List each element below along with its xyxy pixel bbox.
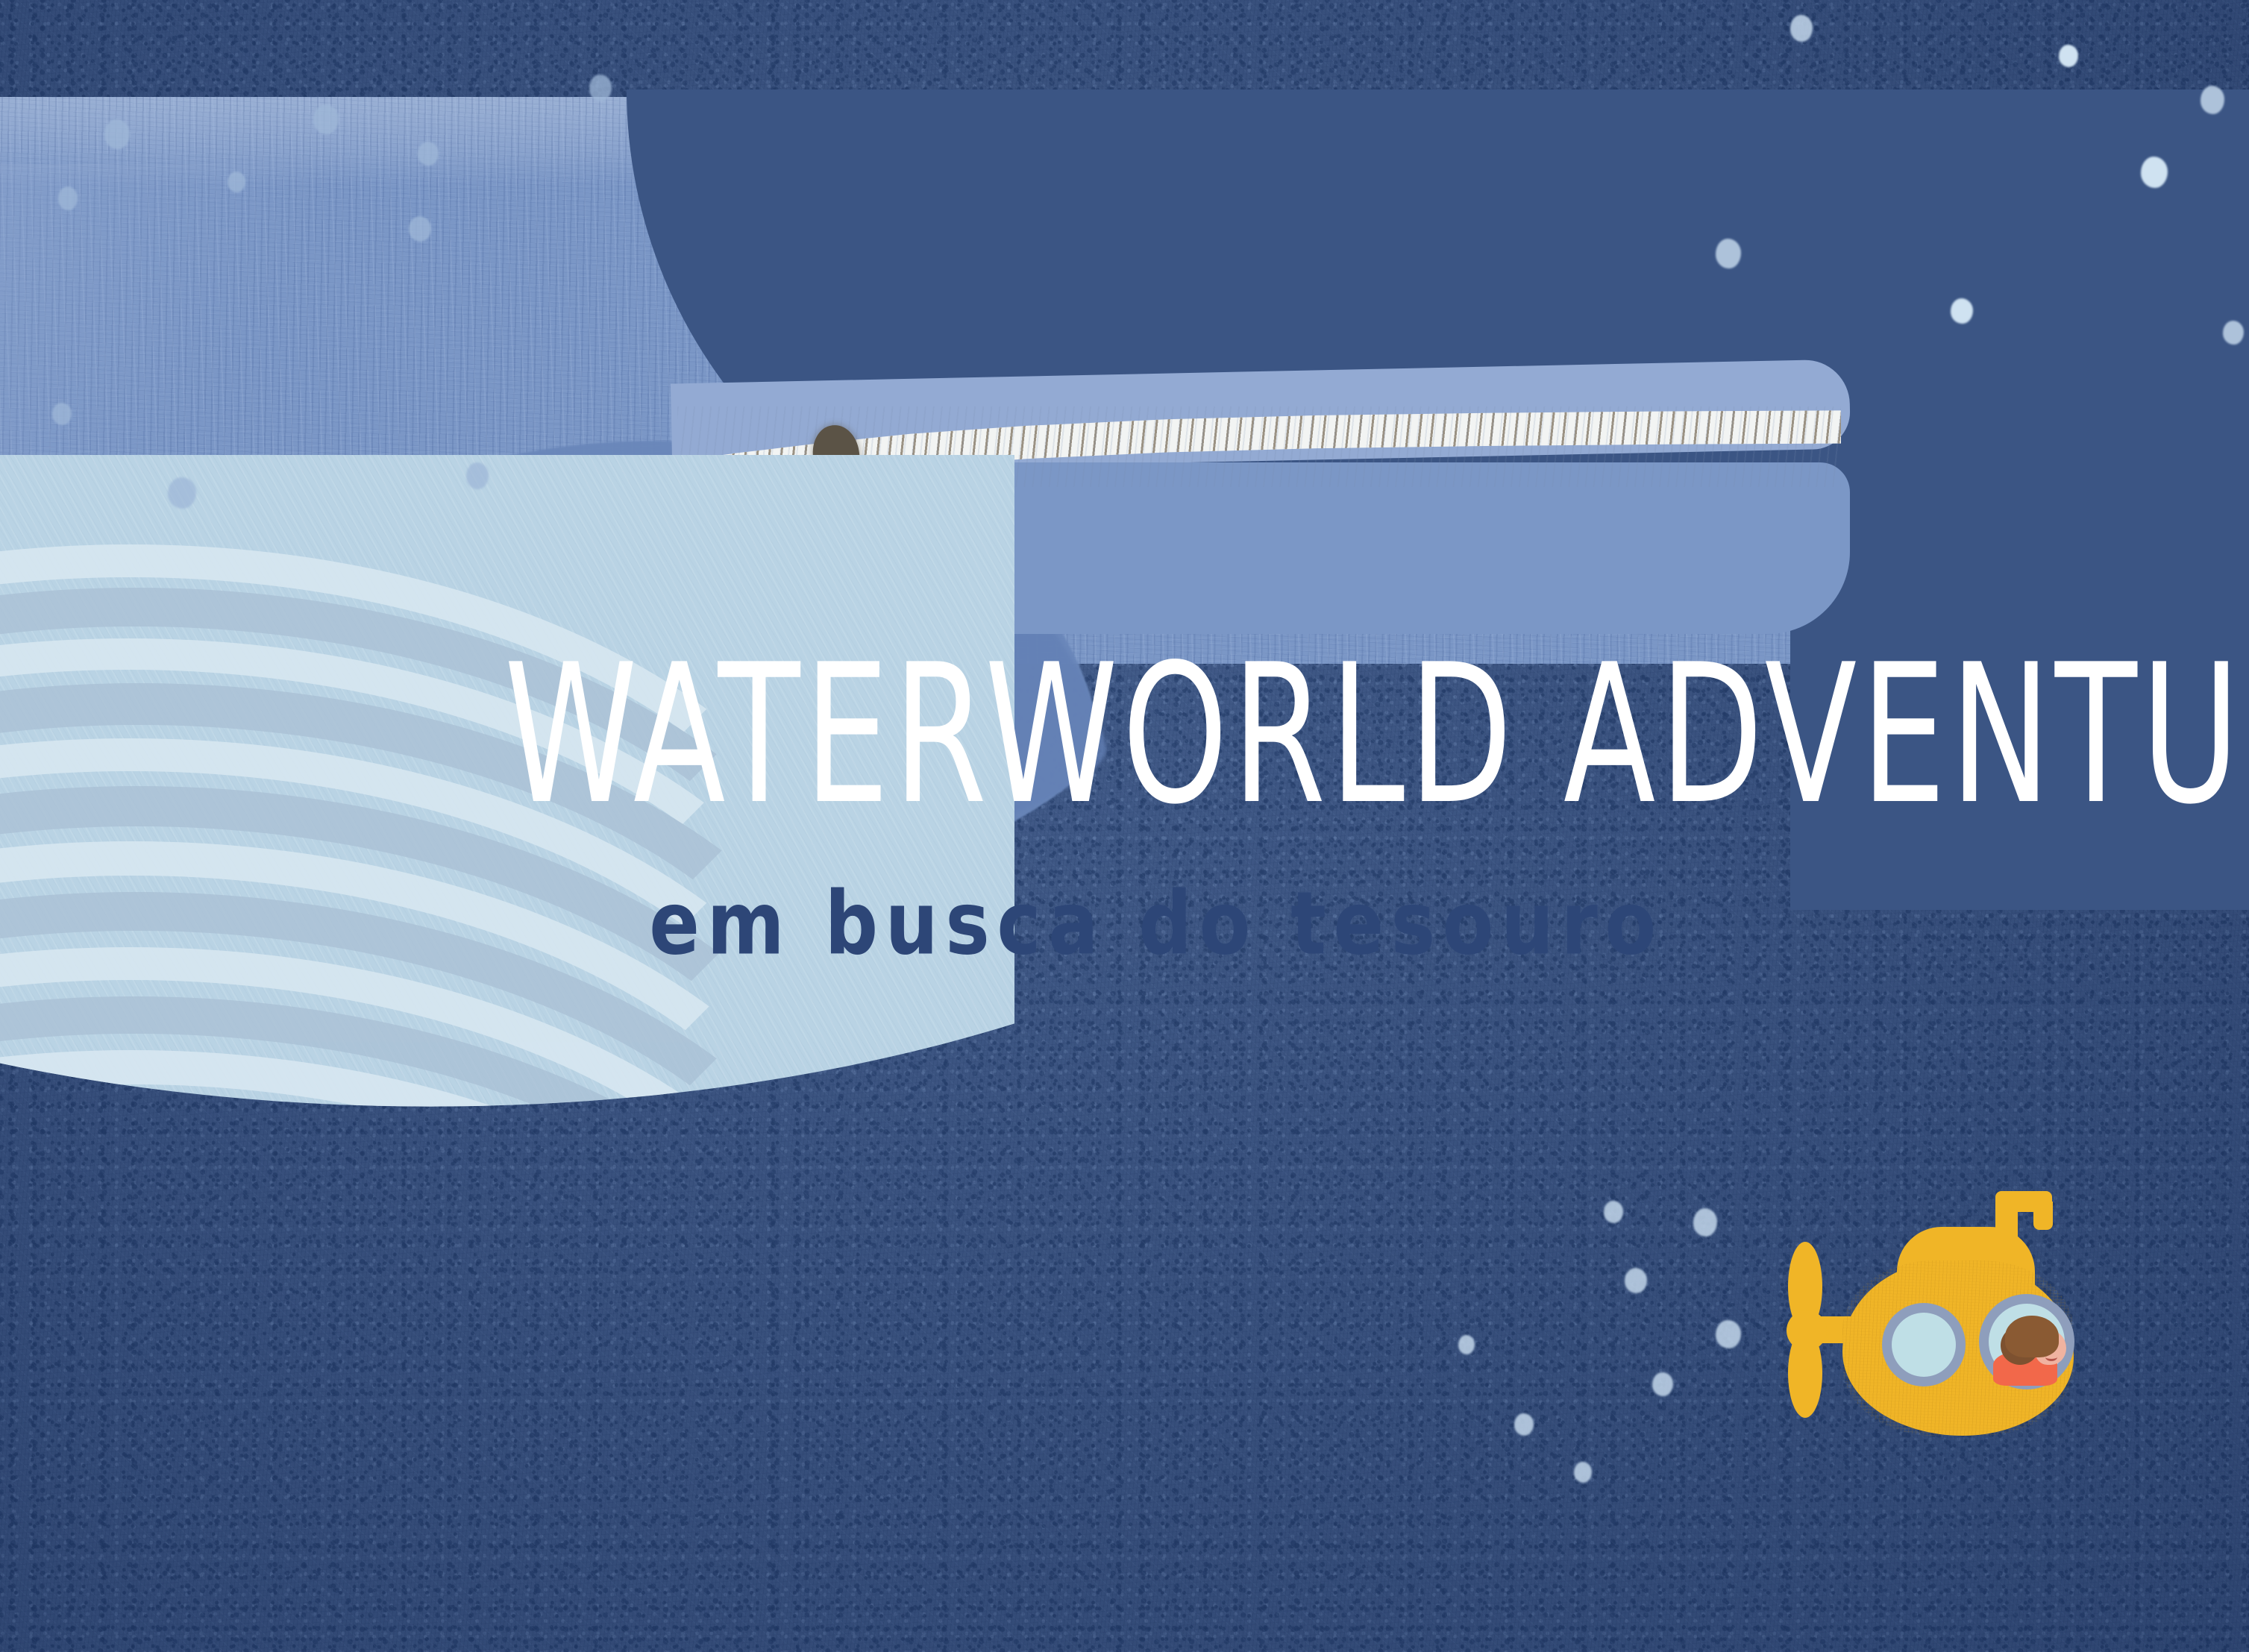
bubble	[1514, 1413, 1534, 1436]
porthole-front	[1882, 1303, 1966, 1386]
bubble	[1693, 1208, 1717, 1237]
bubble	[1574, 1462, 1592, 1483]
bubble	[313, 104, 339, 134]
bubble	[466, 462, 489, 489]
book-cover-illustration: WATERWORLD ADVENTURE em busca do tesouro	[0, 0, 2249, 1652]
submarine[interactable]	[1772, 1190, 2092, 1477]
bubble	[2201, 86, 2224, 114]
bubble	[58, 186, 78, 210]
bubble	[1716, 1320, 1741, 1348]
bubble	[1790, 15, 1813, 42]
throat-pleat	[0, 1101, 877, 1290]
bubble	[409, 216, 431, 242]
cover-title: WATERWORLD ADVENTURE	[504, 640, 1808, 832]
bubble	[1652, 1372, 1673, 1396]
bubble	[104, 119, 130, 149]
child-hair	[2005, 1316, 2059, 1357]
bubble	[52, 403, 72, 425]
bubble	[228, 172, 245, 192]
bubble	[1458, 1335, 1475, 1354]
bubble	[2223, 321, 2244, 345]
porthole-front-glass	[1892, 1313, 1956, 1377]
bubble	[2141, 157, 2168, 188]
periscope-lens	[2033, 1202, 2053, 1230]
bubble	[1604, 1201, 1623, 1223]
bubble	[589, 75, 612, 101]
bubble	[2059, 45, 2078, 67]
bubble	[418, 142, 439, 166]
cover-subtitle: em busca do tesouro	[476, 880, 1836, 967]
bubble	[1625, 1268, 1647, 1293]
porthole-rear-glass	[1989, 1304, 2065, 1380]
bubble	[168, 477, 196, 509]
propeller-hub	[1787, 1310, 1827, 1351]
bubble	[1716, 239, 1741, 268]
porthole-rear	[1979, 1294, 2074, 1389]
bubble	[1951, 298, 1973, 324]
